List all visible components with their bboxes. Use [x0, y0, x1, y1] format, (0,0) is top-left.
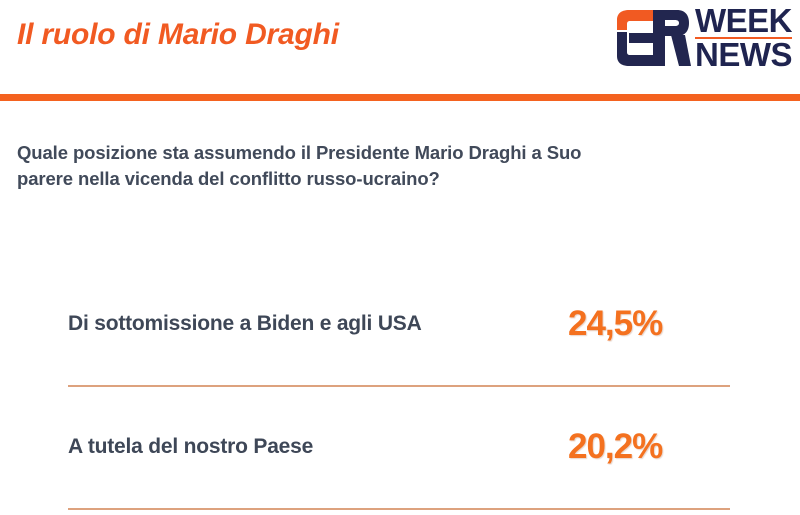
- brand-logo: WEEK NEWS: [613, 6, 792, 70]
- result-divider: [68, 508, 730, 510]
- result-row: A tutela del nostro Paese 20,2%: [0, 408, 800, 486]
- logo-news-text: NEWS: [695, 40, 792, 70]
- result-row: Di sottomissione a Biden e agli USA 24,5…: [0, 285, 800, 363]
- cr-monogram-icon: [613, 8, 691, 68]
- poll-question: Quale posizione sta assumendo il Preside…: [17, 140, 617, 193]
- result-label: A tutela del nostro Paese: [68, 435, 313, 459]
- result-value: 20,2%: [568, 427, 662, 467]
- page-header: Il ruolo di Mario Draghi WEEK NEWS: [0, 0, 800, 94]
- result-label: Di sottomissione a Biden e agli USA: [68, 312, 422, 336]
- result-divider: [68, 385, 730, 387]
- result-value: 24,5%: [568, 304, 662, 344]
- logo-wordmark: WEEK NEWS: [695, 6, 792, 71]
- poll-results-list: Di sottomissione a Biden e agli USA 24,5…: [0, 285, 800, 486]
- page-title: Il ruolo di Mario Draghi: [17, 18, 339, 52]
- logo-week-text: WEEK: [695, 6, 792, 36]
- header-accent-bar: [0, 94, 800, 101]
